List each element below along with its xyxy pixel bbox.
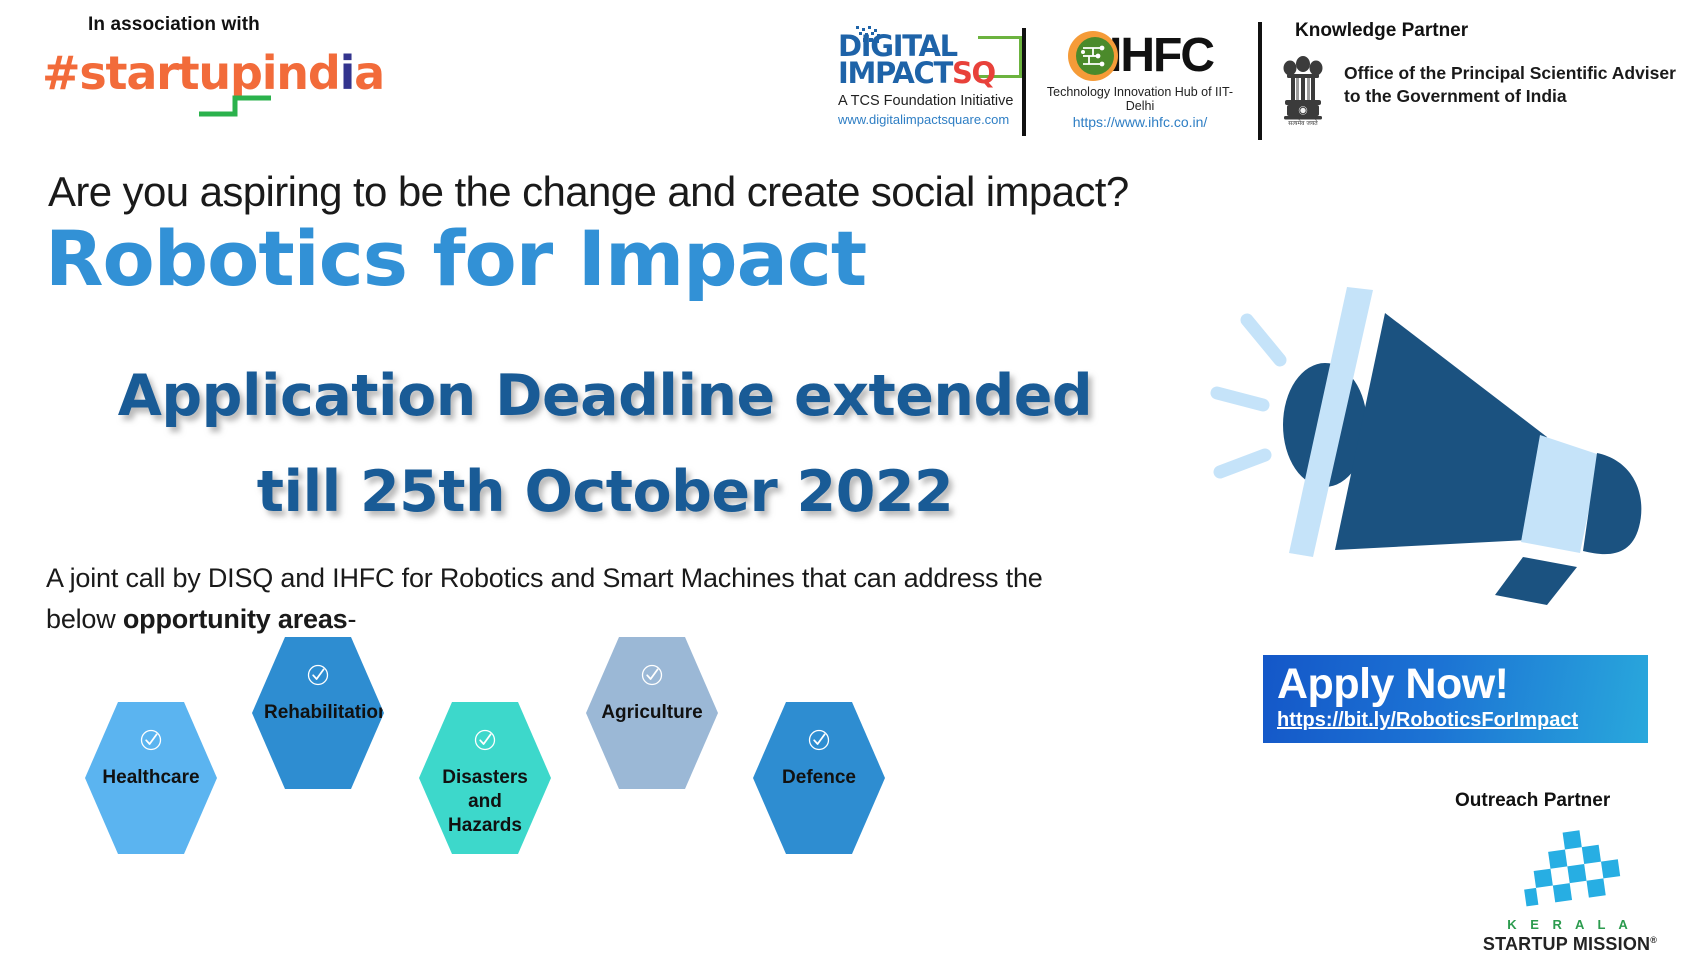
- tagline: Are you aspiring to be the change and cr…: [48, 168, 1129, 216]
- opportunity-hex-label: Healthcare: [97, 766, 205, 790]
- opportunity-hex-label: Disasters and Hazards: [431, 766, 539, 838]
- ihfc-subtitle: Technology Innovation Hub of IIT-Delhi: [1040, 85, 1240, 113]
- opportunity-hex-rehabilitation[interactable]: Rehabilitation: [252, 637, 384, 789]
- check-circle-icon: [473, 728, 497, 752]
- ksm-startup-mission-text: STARTUP MISSION®: [1480, 934, 1660, 955]
- disq-subtitle: A TCS Foundation Initiative: [838, 93, 1018, 110]
- page-title: Robotics for Impact: [45, 218, 866, 300]
- ihfc-logo: IHFC Technology Innovation Hub of IIT-De…: [1040, 30, 1240, 130]
- poster-root: In association with #startupindia: [0, 0, 1700, 960]
- opportunity-hex-label: Agriculture: [598, 701, 706, 725]
- startup-india-wordmark: #startupindia: [42, 48, 332, 98]
- emblem-motto: सत्यमेव जयते: [1288, 119, 1318, 126]
- ihfc-mark-icon: [1067, 30, 1119, 82]
- ihfc-url[interactable]: https://www.ihfc.co.in/: [1040, 114, 1240, 130]
- startup-india-text-b: a: [354, 46, 384, 100]
- apply-now-button[interactable]: Apply Now! https://bit.ly/RoboticsForImp…: [1263, 655, 1648, 743]
- megaphone-speed-lines-icon: [1217, 320, 1280, 472]
- deadline-banner: Application Deadline extended till 25th …: [0, 348, 1210, 540]
- apply-now-label: Apply Now!: [1277, 661, 1648, 707]
- opportunity-hex-disasters-and-hazards[interactable]: Disasters and Hazards: [419, 702, 551, 854]
- opportunity-hex-label: Defence: [765, 766, 873, 790]
- divider-left: [1022, 28, 1026, 136]
- psa-line-1: Office of the Principal Scientific Advis…: [1344, 62, 1676, 85]
- deadline-line-2: till 25th October 2022: [0, 444, 1210, 540]
- opportunity-hex-agriculture[interactable]: Agriculture: [586, 637, 718, 789]
- check-circle-icon: [306, 663, 330, 687]
- startup-india-step-icon: [197, 92, 317, 118]
- ksm-mark-icon: [1510, 828, 1630, 914]
- kerala-startup-mission-logo: K E R A L A STARTUP MISSION®: [1480, 828, 1660, 955]
- opportunity-hex-defence[interactable]: Defence: [753, 702, 885, 854]
- psa-line-2: to the Government of India: [1344, 85, 1676, 108]
- megaphone-horn: [1335, 313, 1547, 550]
- knowledge-partner-name: Office of the Principal Scientific Advis…: [1344, 62, 1676, 108]
- opportunity-hex-label: Rehabilitation: [264, 701, 372, 725]
- association-label: In association with: [88, 14, 260, 36]
- opportunity-hex-healthcare[interactable]: Healthcare: [85, 702, 217, 854]
- knowledge-partner-title: Knowledge Partner: [1295, 20, 1468, 42]
- megaphone-illustration: [1195, 265, 1665, 605]
- disq-url[interactable]: www.digitalimpactsquare.com: [838, 112, 1018, 127]
- description-paragraph: A joint call by DISQ and IHFC for Roboti…: [46, 558, 1096, 640]
- ksm-registered-mark: ®: [1650, 935, 1657, 945]
- check-circle-icon: [807, 728, 831, 752]
- digital-impact-square-logo: DIGITAL IMPACTSQ A TCS Foundation Initia…: [838, 32, 1018, 127]
- description-bold: opportunity areas: [123, 604, 348, 634]
- ihfc-wordmark: IHFC: [1109, 32, 1213, 80]
- check-circle-icon: [139, 728, 163, 752]
- check-circle-icon: [640, 663, 664, 687]
- apply-now-url[interactable]: https://bit.ly/RoboticsForImpact: [1277, 708, 1648, 732]
- divider-right: [1258, 22, 1262, 140]
- startup-india-text-i: i: [340, 46, 355, 100]
- deadline-line-1: Application Deadline extended: [0, 348, 1210, 444]
- megaphone-handle: [1495, 557, 1577, 605]
- ashoka-emblem-icon: सत्यमेव जयते: [1280, 52, 1326, 126]
- outreach-partner-title: Outreach Partner: [1455, 790, 1610, 812]
- ksm-kerala-text: K E R A L A: [1480, 917, 1660, 932]
- disq-line2-impact: IMPACT: [838, 59, 952, 88]
- ksm-sm-words: STARTUP MISSION: [1483, 934, 1650, 954]
- description-tail: -: [348, 604, 357, 634]
- opportunity-areas-group: HealthcareRehabilitationDisasters and Ha…: [0, 640, 1060, 960]
- disq-line2-sq: SQ: [952, 59, 995, 88]
- knowledge-partner-block: सत्यमेव जयते Office of the Principal Sci…: [1280, 52, 1676, 126]
- startup-india-logo: #startupindia: [42, 48, 332, 110]
- startup-india-hash: #: [42, 46, 79, 100]
